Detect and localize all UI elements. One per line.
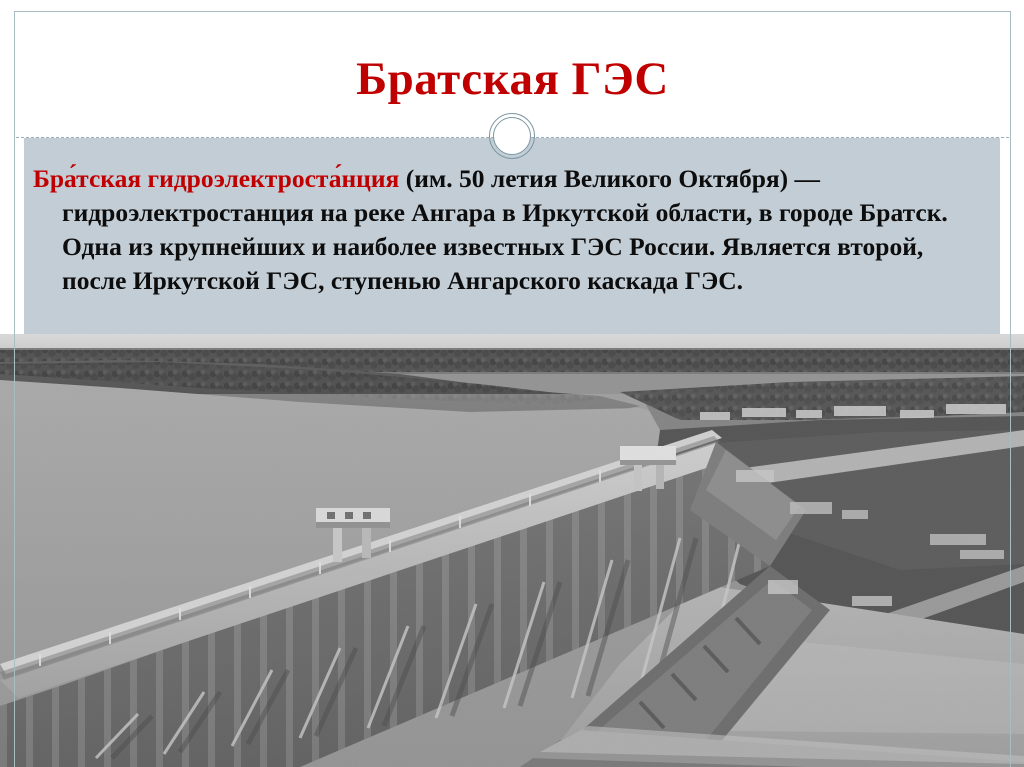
circle-ornament — [489, 113, 537, 161]
page-title: Братская ГЭС — [356, 12, 669, 103]
presentation-slide: Братская ГЭС Бра́тская гидроэлектроста́н… — [0, 0, 1024, 767]
circle-ornament-outer-ring — [489, 113, 535, 159]
body-lead-term: Бра́тская гидроэлектроста́нция — [33, 164, 399, 193]
body-text-panel: Бра́тская гидроэлектроста́нция (им. 50 л… — [15, 138, 1010, 334]
body-paragraph: Бра́тская гидроэлектроста́нция (им. 50 л… — [33, 162, 992, 298]
bratsk-dam-photo — [0, 334, 1024, 767]
dam-photo-illustration — [0, 334, 1024, 767]
